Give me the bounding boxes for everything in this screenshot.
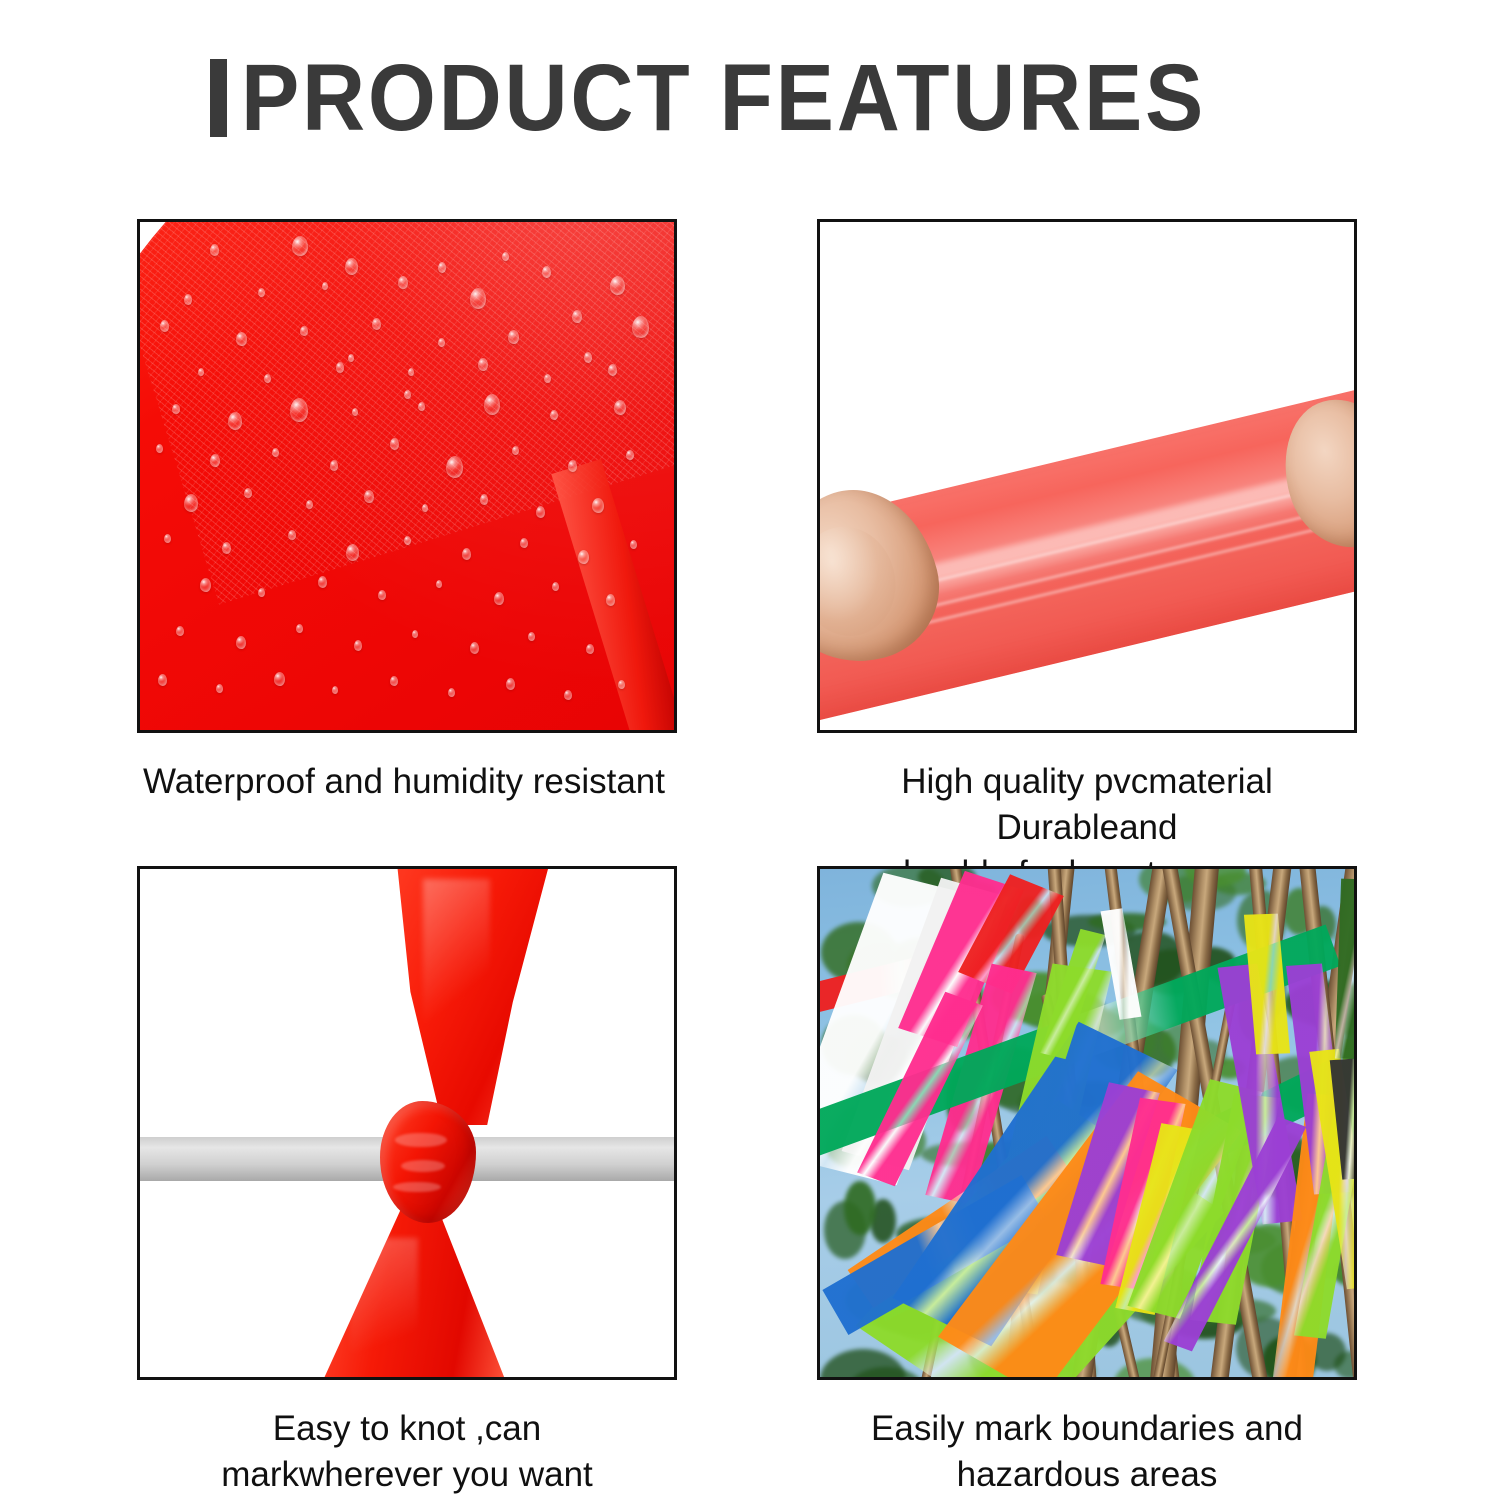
water-droplet [210, 454, 220, 467]
water-droplet [210, 244, 219, 256]
water-droplet [330, 460, 338, 471]
water-droplet [244, 488, 252, 498]
water-droplet [608, 364, 617, 376]
water-droplet [470, 288, 486, 309]
water-droplet [572, 310, 582, 323]
water-droplet [236, 332, 247, 346]
water-droplet [390, 676, 398, 686]
foliage-cluster [817, 866, 826, 867]
feature-card-waterproof: Waterproof and humidity resistant [137, 219, 677, 805]
water-droplet [506, 678, 515, 690]
water-droplet [292, 236, 308, 256]
water-droplet [578, 550, 589, 564]
water-droplet [520, 538, 528, 548]
water-droplet [478, 358, 488, 371]
knot-fold [393, 1182, 441, 1193]
water-droplet [550, 410, 558, 420]
page-header: PRODUCT FEATURES [0, 44, 1500, 152]
water-droplet [404, 536, 411, 545]
water-droplet [398, 276, 408, 289]
water-droplet [446, 456, 463, 478]
water-droplet [222, 542, 231, 554]
feature-image-pvc-material [817, 219, 1357, 733]
water-droplet [345, 258, 358, 275]
foliage-cluster [844, 1181, 876, 1235]
water-droplet [404, 390, 411, 399]
water-droplet [258, 588, 265, 597]
water-droplet [354, 640, 362, 651]
water-droplet [568, 460, 577, 472]
water-droplet [164, 534, 171, 543]
feature-image-waterproof [137, 219, 677, 733]
water-droplet [156, 444, 163, 453]
water-droplet [586, 644, 594, 654]
water-droplet [322, 282, 328, 290]
water-droplet [390, 438, 399, 450]
water-droplet [172, 404, 180, 414]
water-droplet [614, 400, 626, 415]
features-grid: Waterproof and humidity resistant High q… [137, 219, 1353, 1499]
water-droplet [264, 374, 271, 383]
water-droplet [438, 262, 446, 273]
water-droplet [296, 624, 303, 633]
water-droplet [336, 362, 344, 373]
water-droplet [618, 680, 625, 689]
water-droplet [198, 368, 204, 376]
water-droplet [422, 504, 428, 512]
water-droplet [564, 690, 572, 700]
feature-card-pvc-material: High quality pvcmaterial Durableand dura… [817, 219, 1357, 897]
water-droplet [300, 326, 308, 336]
water-droplet [418, 402, 425, 411]
water-droplet [348, 354, 354, 362]
water-droplet [552, 582, 559, 591]
water-droplet [378, 590, 386, 600]
water-droplet [228, 412, 242, 430]
feature-caption-waterproof: Waterproof and humidity resistant [137, 759, 677, 805]
feature-image-easy-to-knot [137, 866, 677, 1380]
knot-fold [395, 1133, 447, 1148]
knot-fold [401, 1160, 445, 1172]
water-droplet [200, 578, 211, 592]
water-droplet [352, 408, 358, 416]
water-droplet [606, 594, 615, 606]
feature-image-mark-boundaries [817, 866, 1357, 1380]
water-droplet [630, 540, 637, 549]
water-droplet [258, 288, 265, 297]
water-droplet [436, 580, 442, 588]
water-droplet [448, 688, 455, 697]
title-accent-bar [210, 59, 227, 137]
water-droplet [512, 446, 519, 455]
water-droplet [408, 368, 414, 376]
water-droplet [462, 548, 471, 560]
water-droplet [372, 318, 381, 330]
water-droplet [494, 592, 504, 605]
water-droplet [480, 494, 488, 505]
water-droplet [236, 636, 246, 649]
water-droplet [288, 530, 296, 540]
water-droplet [470, 642, 479, 654]
water-droplet [272, 448, 279, 457]
water-droplet [502, 252, 509, 261]
water-droplet [484, 394, 500, 415]
water-droplet [438, 338, 445, 347]
water-droplet [346, 544, 359, 561]
water-droplet [290, 398, 308, 422]
water-droplet [274, 672, 285, 686]
water-droplet [592, 498, 604, 513]
water-droplet [158, 674, 167, 686]
page-title: PRODUCT FEATURES [241, 51, 1206, 146]
water-droplet [412, 630, 418, 638]
water-droplet [184, 294, 192, 305]
feature-caption-mark-boundaries: Easily mark boundaries and hazardous are… [817, 1406, 1357, 1498]
water-droplet [332, 686, 338, 694]
feature-card-mark-boundaries: Easily mark boundaries and hazardous are… [817, 866, 1357, 1498]
feature-caption-easy-to-knot: Easy to knot ,can markwherever you want [137, 1406, 677, 1498]
water-droplet [176, 626, 184, 636]
water-droplet [508, 330, 519, 344]
water-droplet [544, 374, 551, 383]
water-droplet [528, 632, 535, 641]
water-droplet [542, 266, 551, 278]
water-droplet [536, 506, 545, 518]
water-droplet [216, 684, 223, 693]
water-droplet [318, 576, 327, 588]
water-droplet [584, 352, 592, 363]
water-droplet [364, 490, 374, 503]
water-droplet [184, 494, 198, 512]
water-droplet [632, 316, 649, 338]
water-droplet [306, 500, 313, 509]
product-features-infographic: PRODUCT FEATURES Waterproof and humidity… [0, 0, 1500, 1500]
water-droplet [626, 450, 634, 460]
water-droplet [610, 276, 625, 295]
water-droplet [160, 320, 169, 332]
foliage-cluster [1356, 997, 1357, 1019]
feature-card-easy-to-knot: Easy to knot ,can markwherever you want [137, 866, 677, 1498]
